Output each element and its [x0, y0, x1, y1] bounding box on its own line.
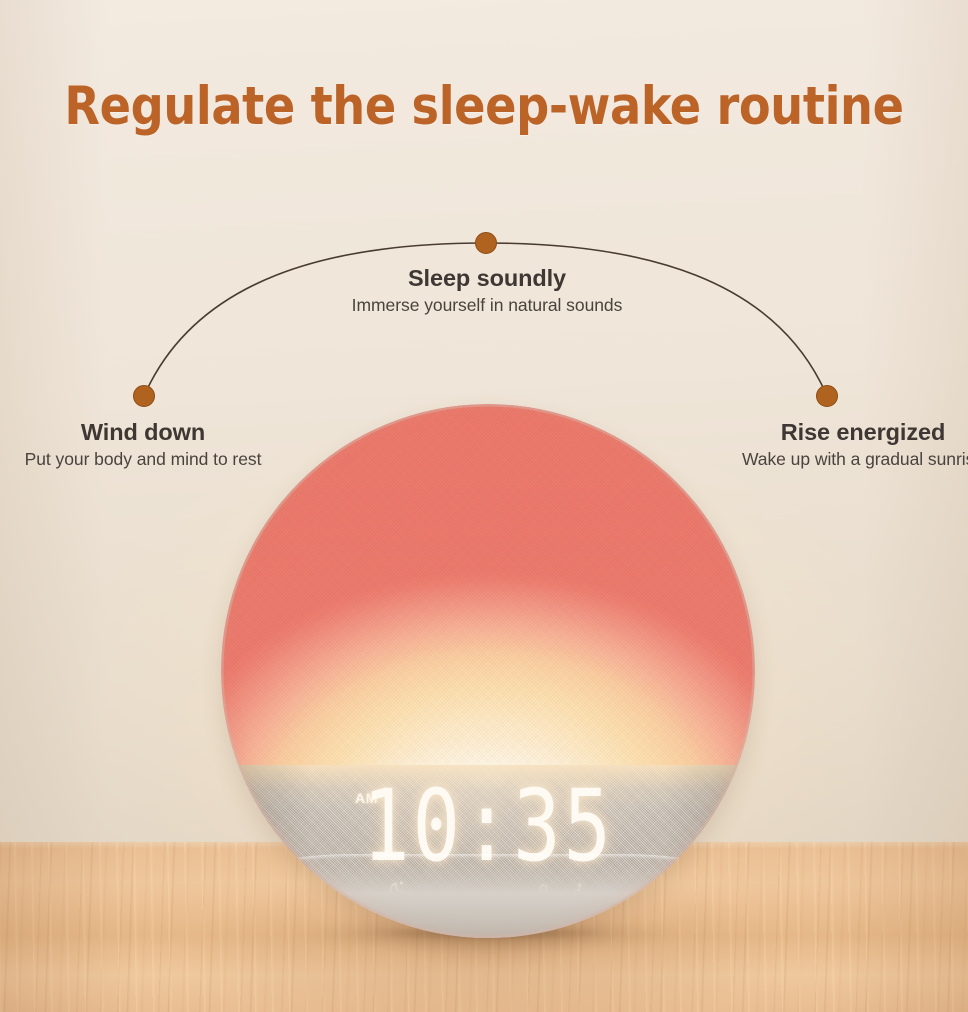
callout-heading: Rise energized	[668, 418, 968, 446]
arc-dot-rise-energized	[817, 386, 838, 407]
callout-subtitle: Wake up with a gradual sunrise	[668, 449, 968, 470]
callout-subtitle: Put your body and mind to rest	[0, 449, 338, 470]
sunrise-alarm-clock[interactable]: AM 10:35	[221, 404, 755, 938]
device-outer-rim	[221, 404, 755, 938]
callout-rise-energized: Rise energized Wake up with a gradual su…	[668, 418, 968, 470]
arc-dot-wind-down	[134, 386, 155, 407]
callout-sleep-soundly: Sleep soundly Immerse yourself in natura…	[287, 264, 687, 316]
callout-subtitle: Immerse yourself in natural sounds	[287, 295, 687, 316]
callout-wind-down: Wind down Put your body and mind to rest	[0, 418, 338, 470]
infographic-canvas: Regulate the sleep-wake routine Sleep so…	[0, 0, 968, 1012]
callout-heading: Wind down	[0, 418, 338, 446]
arc-dot-sleep-soundly	[476, 233, 497, 254]
callout-heading: Sleep soundly	[287, 264, 687, 292]
